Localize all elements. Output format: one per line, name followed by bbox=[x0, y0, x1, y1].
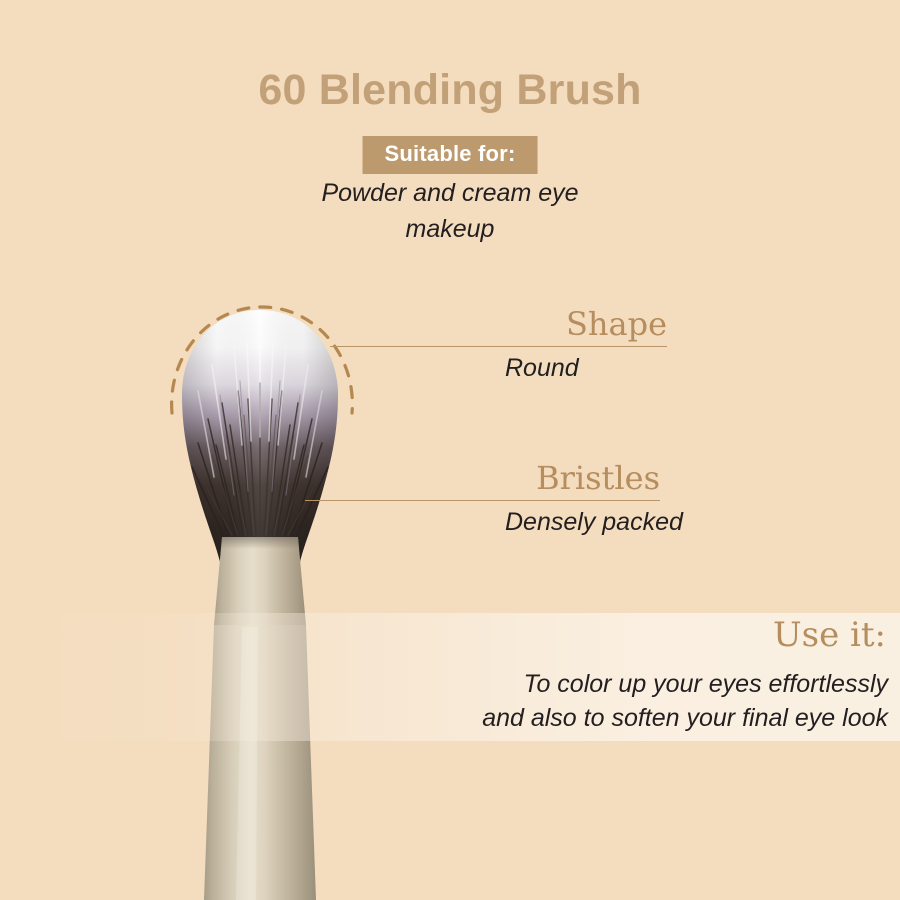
suitable-for-badge: Suitable for: bbox=[363, 136, 538, 174]
feature-shape: Shape Round bbox=[330, 308, 667, 383]
product-infographic: 60 Blending Brush Suitable for: Powder a… bbox=[0, 0, 900, 900]
page-title: 60 Blending Brush bbox=[0, 66, 900, 115]
feature-shape-label: Shape bbox=[330, 308, 667, 340]
feature-bristles-value: Densely packed bbox=[505, 508, 660, 537]
feature-bristles: Bristles Densely packed bbox=[305, 462, 660, 537]
feature-shape-rule bbox=[330, 346, 667, 347]
ferrule-top-shadow bbox=[221, 537, 299, 549]
use-it-body: To color up your eyes effortlessly and a… bbox=[360, 668, 888, 735]
subtitle: Powder and cream eye makeup bbox=[250, 176, 650, 247]
subtitle-line-2: makeup bbox=[250, 212, 650, 248]
subtitle-line-1: Powder and cream eye bbox=[250, 176, 650, 212]
use-it-line-1: To color up your eyes effortlessly bbox=[360, 668, 888, 702]
feature-bristles-rule bbox=[305, 500, 660, 501]
makeup-brush-illustration bbox=[130, 295, 390, 900]
brush-ferrule bbox=[214, 537, 306, 625]
feature-bristles-label: Bristles bbox=[305, 462, 660, 494]
use-it-line-2: and also to soften your final eye look bbox=[360, 702, 888, 736]
use-it-label: Use it: bbox=[773, 618, 886, 652]
feature-shape-value: Round bbox=[505, 354, 667, 383]
